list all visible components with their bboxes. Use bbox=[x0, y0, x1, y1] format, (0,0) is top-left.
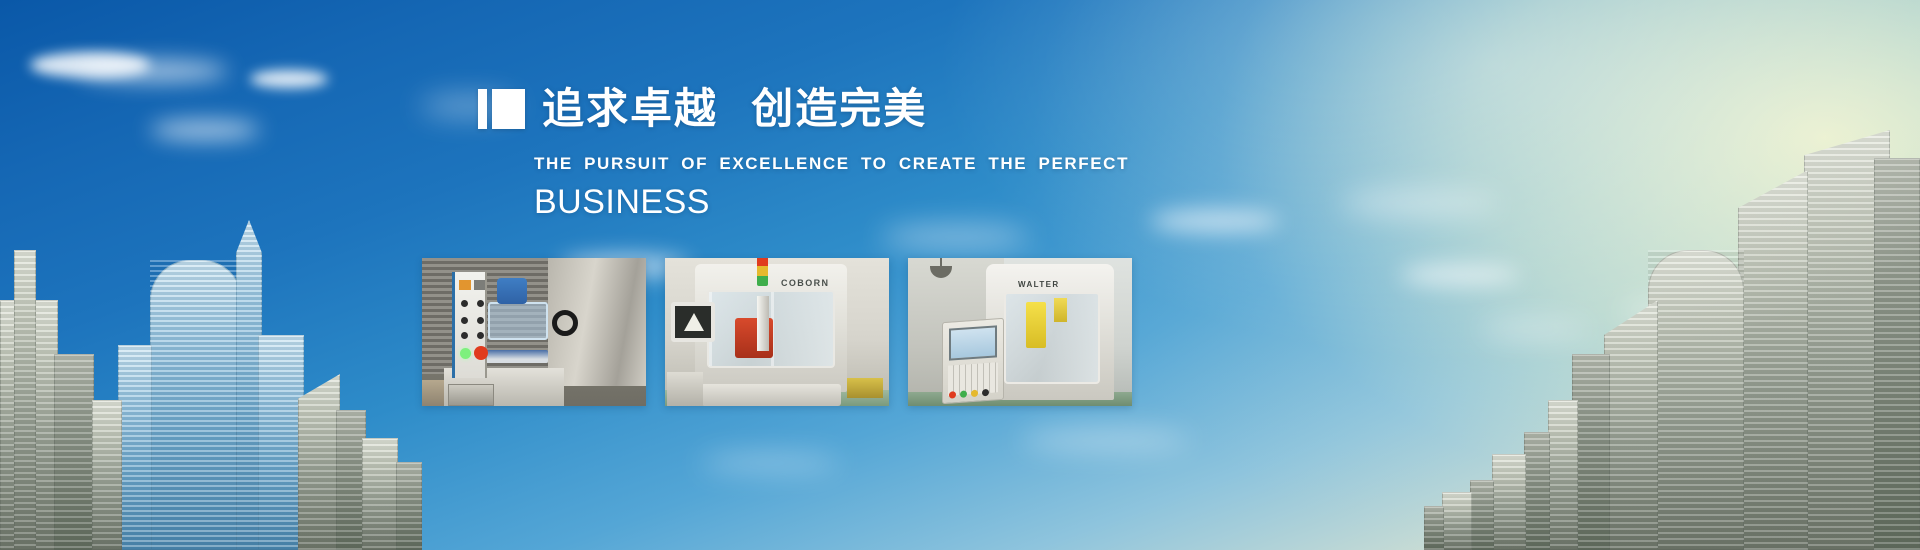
cloud-icon bbox=[1340, 190, 1500, 216]
cloud-icon bbox=[1480, 320, 1590, 338]
cloud-icon bbox=[78, 60, 228, 82]
cloud-icon bbox=[1150, 210, 1280, 232]
title-row: 追求卓越 创造完美 bbox=[478, 88, 1129, 130]
cloud-icon bbox=[880, 225, 1030, 249]
cloud-icon bbox=[1020, 430, 1190, 450]
word-business: BUSINESS bbox=[534, 183, 1129, 222]
logo-bars-icon bbox=[478, 89, 525, 129]
photo-brand-label-coborn: COBORN bbox=[781, 278, 829, 288]
cityscape-left bbox=[0, 130, 430, 550]
headline-block: 追求卓越 创造完美 THE PURSUIT OF EXCELLENCE TO C… bbox=[478, 88, 1129, 222]
tagline-english: THE PURSUIT OF EXCELLENCE TO CREATE THE … bbox=[534, 154, 1129, 174]
photo-surface-grinder[interactable] bbox=[422, 258, 646, 406]
cloud-icon bbox=[150, 120, 260, 140]
cloud-icon bbox=[1400, 265, 1520, 285]
cloud-icon bbox=[700, 455, 840, 471]
photo-strip: COBORN WALTER bbox=[422, 258, 1132, 406]
cloud-icon bbox=[1620, 300, 1760, 322]
photo-coborn-machine[interactable]: COBORN bbox=[665, 258, 889, 406]
headline-chinese: 追求卓越 创造完美 bbox=[542, 88, 927, 130]
hero-banner: 追求卓越 创造完美 THE PURSUIT OF EXCELLENCE TO C… bbox=[0, 0, 1920, 550]
cloud-icon bbox=[250, 70, 328, 88]
photo-brand-label-walter: WALTER bbox=[1018, 280, 1060, 289]
photo-walter-machine[interactable]: WALTER bbox=[908, 258, 1132, 406]
